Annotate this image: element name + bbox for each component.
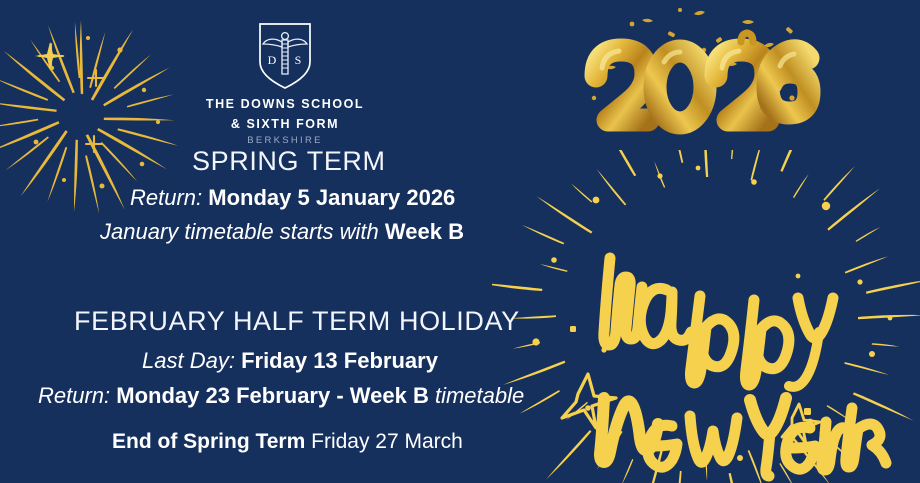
spring-term-heading: SPRING TERM xyxy=(192,146,386,177)
end-of-term-label: End of Spring Term xyxy=(112,430,305,453)
school-name-line-1: THE DOWNS SCHOOL xyxy=(190,97,380,112)
spring-timetable-prefix: January timetable starts with xyxy=(100,219,379,244)
february-return-label: Return: xyxy=(38,383,110,408)
year-balloons-2026 xyxy=(576,2,836,142)
svg-text:S: S xyxy=(295,53,302,67)
spring-return-label: Return: xyxy=(130,185,202,210)
school-crest-shield-icon: D S xyxy=(254,20,316,92)
february-return-value: Monday 23 February - Week B xyxy=(116,383,429,408)
balloon-digit-6 xyxy=(768,51,809,113)
spring-return-line: Return: Monday 5 January 2026 xyxy=(130,185,455,211)
balloon-digit-2b xyxy=(716,33,768,120)
february-return-suffix: timetable xyxy=(435,383,524,408)
greeting-script xyxy=(600,258,886,476)
school-location: BERKSHIRE xyxy=(190,135,380,146)
school-logo: D S THE DOWNS SCHOOL & SIXTH FORM BERKSH… xyxy=(190,20,380,146)
balloon-digit-0 xyxy=(655,51,705,123)
february-half-term-heading: FEBRUARY HALF TERM HOLIDAY xyxy=(74,306,520,337)
greeting-happy xyxy=(604,258,833,387)
balloon-digit-2 xyxy=(596,50,648,120)
end-of-term-value: Friday 27 March xyxy=(311,430,463,453)
sunburst-dots xyxy=(532,166,892,461)
school-name-line-2: & SIXTH FORM xyxy=(190,117,380,132)
february-last-day-line: Last Day: Friday 13 February xyxy=(142,348,438,374)
february-return-line: Return: Monday 23 February - Week B time… xyxy=(38,383,524,409)
february-last-day-value: Friday 13 February xyxy=(241,348,438,373)
february-last-day-label: Last Day: xyxy=(142,348,235,373)
spring-timetable-week: Week B xyxy=(385,219,464,244)
new-year-term-dates-poster: D S THE DOWNS SCHOOL & SIXTH FORM BERKSH… xyxy=(0,0,920,483)
spring-timetable-line: January timetable starts with Week B xyxy=(100,219,464,245)
sparkle-star-icon xyxy=(562,374,820,444)
svg-text:D: D xyxy=(268,53,277,67)
spring-return-value: Monday 5 January 2026 xyxy=(208,185,455,210)
end-of-term-line: End of Spring Term Friday 27 March xyxy=(112,430,463,454)
confetti-icon xyxy=(592,8,815,104)
term-dates-text-column: D S THE DOWNS SCHOOL & SIXTH FORM BERKSH… xyxy=(0,0,580,483)
greeting-new-year xyxy=(600,398,886,476)
